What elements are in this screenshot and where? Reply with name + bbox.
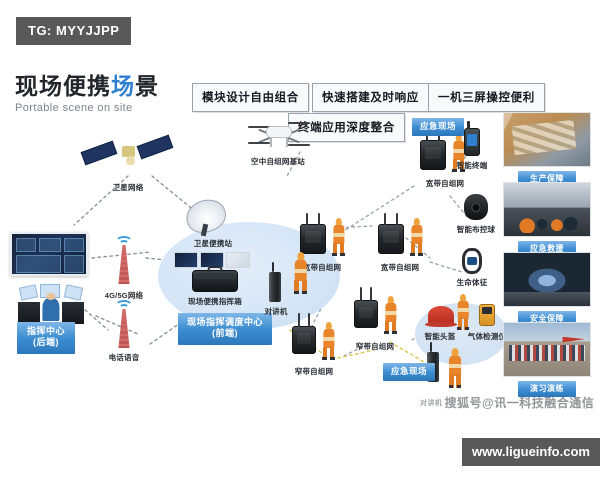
label-vital-signs: 生命体征 xyxy=(457,277,488,288)
feature-box-3: 一机三屏操控便利 xyxy=(428,83,545,112)
gas-detector-icon xyxy=(479,304,495,326)
firefighter-figure-8 xyxy=(446,348,464,388)
smart-helmet-icon xyxy=(428,306,454,324)
firefighter-figure-6 xyxy=(382,296,399,334)
firefighter-figure-4 xyxy=(291,252,310,294)
photo-card-drill: 演习演练 xyxy=(503,322,591,397)
narrowband-mesh-node-2-icon xyxy=(354,300,378,328)
label-broadband-mesh-2: 宽带自组网 xyxy=(381,262,420,273)
title-part2: 景 xyxy=(135,73,159,99)
label-satellite: 卫星网络 xyxy=(113,182,144,193)
label-aerial-mesh: 空中自组网基站 xyxy=(251,156,305,167)
title-part1: 现场便携 xyxy=(15,73,111,99)
photo-image-production xyxy=(503,112,591,167)
tag-front-line1: 现场指挥调度中心 xyxy=(187,317,263,327)
drone-icon xyxy=(250,118,308,152)
watermark-prefix: 对讲机 xyxy=(420,400,443,407)
label-phone-voice: 电话语音 xyxy=(109,352,140,363)
video-wall-icon xyxy=(10,232,88,276)
satellite-icon xyxy=(82,138,172,176)
control-room-icon xyxy=(18,284,84,324)
narrowband-mesh-node-1-icon xyxy=(292,326,316,354)
title-accent: 场 xyxy=(111,73,135,99)
satellite-dish-icon xyxy=(186,200,226,232)
phone-voice-tower-icon xyxy=(112,304,136,348)
watermark-text: 搜狐号@讯一科技融合通信 xyxy=(445,396,595,410)
tag-command-center-line2: (后端) xyxy=(33,337,59,347)
title-subtitle: Portable scene on site xyxy=(15,102,159,114)
photo-image-drill xyxy=(503,322,591,377)
label-command-case: 现场便携指挥箱 xyxy=(188,296,242,307)
poster-canvas: TG: MYYJJPP 现场便携场景 Portable scene on sit… xyxy=(0,0,600,480)
firefighter-figure-1 xyxy=(330,218,347,256)
title-main: 现场便携场景 xyxy=(15,74,159,98)
photo-card-rescue: 应急救援 xyxy=(503,182,591,257)
url-badge: www.ligueinfo.com xyxy=(462,438,600,466)
feature-box-1: 模块设计自由组合 xyxy=(192,83,309,112)
label-sat-portable-station: 卫星便携站 xyxy=(194,238,233,249)
firefighter-figure-5 xyxy=(320,322,337,360)
feature-box-2: 快速搭建及时响应 xyxy=(312,83,429,112)
portable-command-case-icon xyxy=(192,270,238,292)
broadband-mesh-node-1-icon xyxy=(300,224,326,254)
broadband-mesh-node-3-icon xyxy=(420,140,446,170)
tag-emergency-site-bottom: 应急现场 xyxy=(383,363,435,381)
firefighter-figure-7 xyxy=(455,294,471,330)
vital-signs-band-icon xyxy=(462,248,482,274)
watermark: 对讲机搜狐号@讯一科技融合通信 xyxy=(420,394,594,411)
label-ball-camera: 智能布控球 xyxy=(457,224,496,235)
tag-command-center-line1: 指挥中心 xyxy=(27,326,65,336)
label-narrowband-mesh-2: 窄带自组网 xyxy=(356,341,395,352)
tag-emergency-site-top: 应急现场 xyxy=(412,118,464,136)
lte-tower-icon xyxy=(112,240,136,284)
smart-terminal-icon xyxy=(464,128,480,156)
label-narrowband-mesh-1: 窄带自组网 xyxy=(295,366,334,377)
photo-image-safety xyxy=(503,252,591,307)
tg-badge: TG: MYYJJPP xyxy=(16,17,131,45)
photo-card-safety: 安全保障 xyxy=(503,252,591,327)
ball-camera-icon xyxy=(464,194,488,220)
label-broadband-mesh-3: 宽带自组网 xyxy=(426,178,465,189)
label-walkie-talkie: 对讲机 xyxy=(264,306,287,317)
broadband-mesh-node-2-icon xyxy=(378,224,404,254)
tag-front-line2: (前端) xyxy=(212,328,238,338)
tag-front-command-center: 现场指挥调度中心 (前端) xyxy=(178,313,272,345)
photo-card-production: 生产保障 xyxy=(503,112,591,187)
firefighter-figure-2 xyxy=(408,218,425,256)
tag-command-center: 指挥中心 (后端) xyxy=(17,322,75,354)
label-gas-detector: 气体检测仪 xyxy=(468,331,507,342)
photo-image-rescue xyxy=(503,182,591,237)
label-smart-helmet: 智能头盔 xyxy=(425,331,456,342)
walkie-talkie-icon xyxy=(269,272,281,302)
label-smart-terminal: 智能终端 xyxy=(457,160,488,171)
page-title: 现场便携场景 Portable scene on site xyxy=(15,74,159,114)
